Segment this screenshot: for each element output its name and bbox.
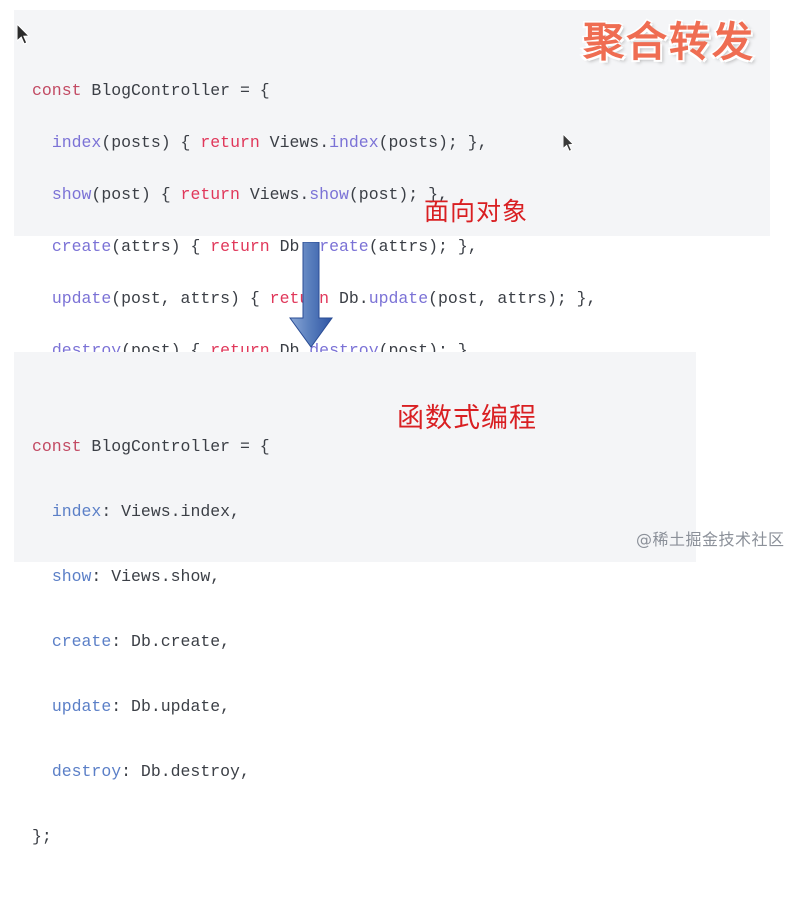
code-token: update <box>52 697 111 716</box>
code-line: show: Views.show, <box>32 561 696 593</box>
code-line: update: Db.update, <box>32 691 696 723</box>
code-line: }; <box>32 821 696 853</box>
functional-code-block: const BlogController = { index: Views.in… <box>14 352 696 562</box>
code-line: index(posts) { return Views.index(posts)… <box>32 130 770 156</box>
code-token: const <box>32 81 82 100</box>
code-token <box>32 185 52 204</box>
slide-canvas: const BlogController = { index(posts) { … <box>0 0 804 562</box>
label-functional-programming: 函数式编程 <box>397 396 537 435</box>
code-line: show(post) { return Views.show(post); }, <box>32 182 770 208</box>
code-token: index <box>329 133 379 152</box>
code-token: create <box>52 237 111 256</box>
code-token: (attrs); }, <box>369 237 478 256</box>
code-token <box>32 289 52 308</box>
label-object-oriented: 面向对象 <box>424 192 528 228</box>
functional-code-text: const BlogController = { index: Views.in… <box>32 431 696 853</box>
code-token: BlogController = { <box>82 81 270 100</box>
code-token: : Db.destroy, <box>121 762 250 781</box>
code-token: show <box>52 185 92 204</box>
code-token: (attrs) { <box>111 237 210 256</box>
code-token: }; <box>32 827 52 846</box>
code-token: Db. <box>329 289 369 308</box>
code-token: destroy <box>52 762 121 781</box>
code-token: show <box>309 185 349 204</box>
code-token: (post, attrs) { <box>111 289 269 308</box>
code-token: : Views.index, <box>101 502 240 521</box>
code-token: BlogController = { <box>82 437 270 456</box>
code-token: : Views.show, <box>91 567 220 586</box>
code-token: index <box>52 133 102 152</box>
code-token <box>32 762 52 781</box>
code-token: return <box>200 133 259 152</box>
code-token: (posts); }, <box>379 133 488 152</box>
code-token: : Db.update, <box>111 697 230 716</box>
code-token: create <box>52 632 111 651</box>
code-token: const <box>32 437 82 456</box>
code-token: (post, attrs); }, <box>428 289 596 308</box>
code-token: show <box>52 567 92 586</box>
code-token: : Db.create, <box>111 632 230 651</box>
code-token: (posts) { <box>101 133 200 152</box>
code-token: update <box>369 289 428 308</box>
code-token <box>32 133 52 152</box>
code-line: index: Views.index, <box>32 496 696 528</box>
code-line: const BlogController = { <box>32 78 770 104</box>
code-token <box>32 632 52 651</box>
code-line: create(attrs) { return Db.create(attrs);… <box>32 234 770 260</box>
code-token: index <box>52 502 102 521</box>
code-token <box>32 697 52 716</box>
downward-flow-arrow-icon <box>288 242 334 350</box>
code-token <box>32 567 52 586</box>
code-line: create: Db.create, <box>32 626 696 658</box>
title-banner: 聚合转发 <box>583 8 755 68</box>
watermark: @稀土掘金技术社区 <box>636 526 785 550</box>
code-token: (post) { <box>91 185 180 204</box>
code-token <box>32 237 52 256</box>
code-line: const BlogController = { <box>32 431 696 463</box>
code-token: return <box>181 185 240 204</box>
code-token: update <box>52 289 111 308</box>
code-line: update(post, attrs) { return Db.update(p… <box>32 286 770 312</box>
code-token: Views. <box>260 133 329 152</box>
code-line: destroy: Db.destroy, <box>32 756 696 788</box>
code-token: Views. <box>240 185 309 204</box>
code-token: return <box>210 237 269 256</box>
code-token <box>32 502 52 521</box>
